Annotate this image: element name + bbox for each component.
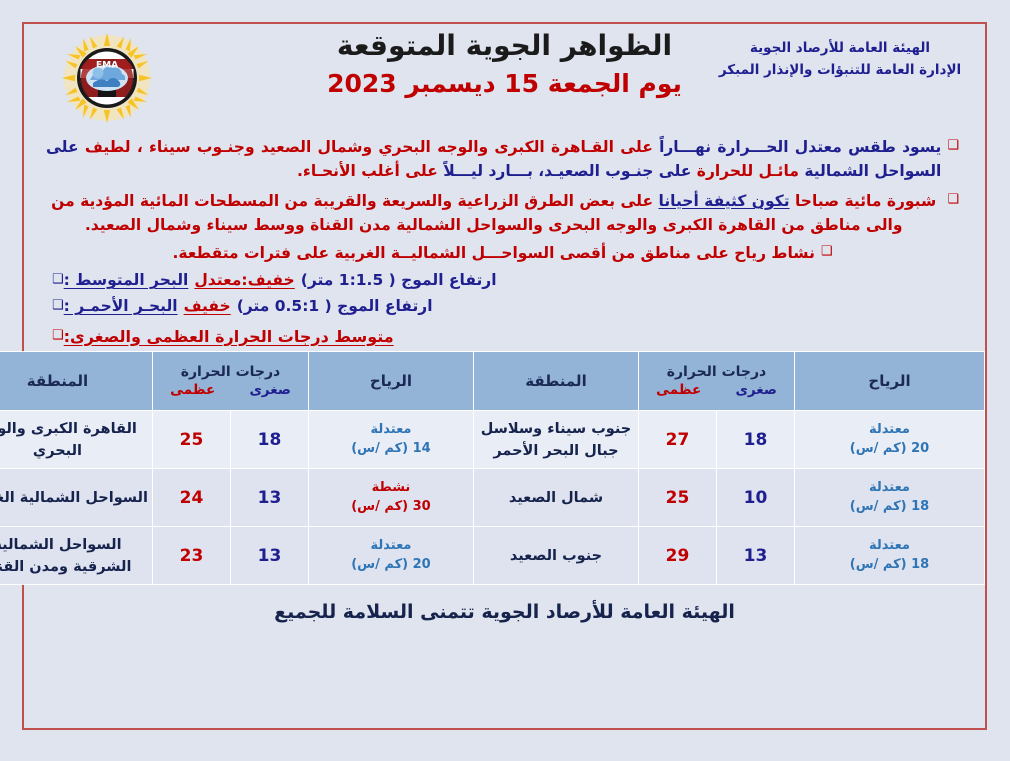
temp-min-left: 13 xyxy=(744,546,768,566)
table-row: معتدلة 18 (كم /س) 10 25 شمال الصعيد xyxy=(0,469,985,527)
temp-min-right: 13 xyxy=(258,488,282,508)
wind-state-left: معتدلة xyxy=(795,537,984,555)
bullet-marker-icon: ❑ xyxy=(52,269,64,291)
temperature-table: الرياح درجات الحرارة صغرى عظمى المنطقة ا… xyxy=(0,351,985,585)
table-header-row: الرياح درجات الحرارة صغرى عظمى المنطقة ا… xyxy=(0,352,985,411)
wind-value-left: معتدلة 18 (كم /س) xyxy=(795,479,984,515)
cell-wind-right: معتدلة 20 (كم /س) xyxy=(308,527,473,585)
table-row: معتدلة 18 (كم /س) 13 29 جنوب الصعيد xyxy=(0,527,985,585)
region-name-right: القاهرة الكبرى والوجه البحري xyxy=(0,421,137,459)
region-name-left: جنوب الصعيد xyxy=(510,548,602,564)
agency-line-2: الإدارة العامة للتنبؤات والإنذار المبكر xyxy=(715,60,965,82)
wind-speed-left: 18 (كم /س) xyxy=(795,556,984,574)
temp-min-left: 18 xyxy=(744,430,768,450)
wind-value-right: معتدلة 14 (كم /س) xyxy=(309,421,473,457)
header-min-left: صغرى xyxy=(735,382,776,398)
cell-min-left: 10 xyxy=(717,469,795,527)
bullet-marker-icon: ❑ xyxy=(52,295,64,317)
agency-name: الهيئة العامة للأرصاد الجوية الإدارة الع… xyxy=(715,38,965,81)
temp-max-right: 25 xyxy=(180,430,204,450)
sea-red-row: ارتفاع الموج ( 0.5:1 متر) خفيف البحـر ال… xyxy=(46,295,959,317)
bullet-wind: ❑ نشاط رياح على مناطق من أقصى السواحـــل… xyxy=(46,241,959,265)
wind-speed-right: 14 (كم /س) xyxy=(309,440,473,458)
b1-seg2: على القـاهرة الكبرى والوجه البحري وشمال … xyxy=(85,138,653,156)
cell-region-left: جنوب الصعيد xyxy=(473,527,638,585)
bulletin-header: EMA الظواهر الجوية المتوقعة يوم الجمعة 1… xyxy=(24,24,985,129)
cell-region-left: جنوب سيناء وسلاسل جبال البحر الأحمر xyxy=(473,411,638,469)
header-max-right: عظمى xyxy=(170,382,215,398)
header-wind-left-label: الرياح xyxy=(868,372,910,390)
b1-seg6: على أغلب الأنحـاء. xyxy=(297,162,438,180)
cell-min-right: 13 xyxy=(230,527,308,585)
header-region-left: المنطقة xyxy=(473,352,638,411)
header-region-right-label: المنطقة xyxy=(27,372,88,390)
wind-state-right: معتدلة xyxy=(309,537,473,555)
header-temps-left: درجات الحرارة صغرى عظمى xyxy=(638,352,794,411)
temp-max-right: 24 xyxy=(180,488,204,508)
wind-value-right: معتدلة 20 (كم /س) xyxy=(309,537,473,573)
cell-wind-right: معتدلة 14 (كم /س) xyxy=(308,411,473,469)
wind-state-left: معتدلة xyxy=(795,479,984,497)
header-temps-right: درجات الحرارة صغرى عظمى xyxy=(152,352,308,411)
wind-value-left: معتدلة 18 (كم /س) xyxy=(795,537,984,573)
b3-text: نشاط رياح على مناطق من أقصى السواحـــل ا… xyxy=(172,244,814,262)
bullet-marker-icon: ❑ xyxy=(52,325,64,347)
cell-max-left: 25 xyxy=(638,469,716,527)
bullet-general-weather-text: يسود طقس معتدل الحـــرارة نهـــاراً على … xyxy=(46,135,941,183)
wind-state-right: نشطة xyxy=(309,479,473,497)
cell-max-right: 24 xyxy=(152,469,230,527)
header-wind-right-label: الرياح xyxy=(370,372,412,390)
wind-value-left: معتدلة 20 (كم /س) xyxy=(795,421,984,457)
sea-red-state: خفيف xyxy=(184,297,231,315)
cell-max-right: 25 xyxy=(152,411,230,469)
temp-min-right: 18 xyxy=(258,430,282,450)
sea-mediterranean-wave: ارتفاع الموج ( 1:1.5 متر) xyxy=(301,271,497,289)
cell-min-left: 13 xyxy=(717,527,795,585)
b2-seg1: شبورة مائية صباحا xyxy=(795,192,936,210)
region-name-left: جنوب سيناء وسلاسل جبال البحر الأحمر xyxy=(481,421,632,459)
cell-wind-left: معتدلة 20 (كم /س) xyxy=(795,411,985,469)
table-caption: متوسط درجات الحرارة العظمى والصغرى: xyxy=(64,327,394,346)
sea-mediterranean-state: خفيف:معتدل xyxy=(194,271,294,289)
region-name-right: السواحل الشمالية الشرقية ومدن القناة xyxy=(0,537,131,575)
header-region-left-label: المنطقة xyxy=(525,372,586,390)
cell-wind-left: معتدلة 18 (كم /س) xyxy=(795,527,985,585)
sea-mediterranean-row: ارتفاع الموج ( 1:1.5 متر) خفيف:معتدل الب… xyxy=(46,269,959,291)
header-wind-right: الرياح xyxy=(308,352,473,411)
bullet-fog-text: شبورة مائية صباحا تكون كثيفة أحيانا على … xyxy=(46,189,941,237)
wind-speed-left: 20 (كم /س) xyxy=(795,440,984,458)
cell-min-left: 18 xyxy=(717,411,795,469)
agency-line-1: الهيئة العامة للأرصاد الجوية xyxy=(715,38,965,60)
header-region-right: المنطقة xyxy=(0,352,152,411)
bullet-wind-text: نشاط رياح على مناطق من أقصى السواحـــل ا… xyxy=(172,241,814,265)
cell-max-left: 29 xyxy=(638,527,716,585)
bullet-marker-icon: ❑ xyxy=(821,241,833,263)
bullet-marker-icon: ❑ xyxy=(947,189,959,211)
sea-mediterranean-label: البحر المتوسط : xyxy=(64,271,189,289)
table-row: معتدلة 20 (كم /س) 18 27 جنوب سيناء وسلاس… xyxy=(0,411,985,469)
cell-min-right: 18 xyxy=(230,411,308,469)
cell-region-right: السواحل الشمالية الغربية xyxy=(0,469,152,527)
wind-speed-right: 30 (كم /س) xyxy=(309,498,473,516)
cell-wind-left: معتدلة 18 (كم /س) xyxy=(795,469,985,527)
b1-seg4: مائـل للحرارة xyxy=(697,162,799,180)
header-wind-left: الرياح xyxy=(795,352,985,411)
temp-min-right: 13 xyxy=(258,546,282,566)
bullet-general-weather: ❑ يسود طقس معتدل الحـــرارة نهـــاراً عل… xyxy=(46,135,959,183)
wind-value-right: نشطة 30 (كم /س) xyxy=(309,479,473,515)
temp-max-left: 25 xyxy=(666,488,690,508)
header-min-right: صغرى xyxy=(249,382,290,398)
cell-region-right: السواحل الشمالية الشرقية ومدن القناة xyxy=(0,527,152,585)
temp-max-left: 27 xyxy=(666,430,690,450)
cell-max-right: 23 xyxy=(152,527,230,585)
bullet-marker-icon: ❑ xyxy=(947,135,959,157)
cell-region-right: القاهرة الكبرى والوجه البحري xyxy=(0,411,152,469)
sea-red-label: البحـر الأحمـر : xyxy=(64,297,178,315)
b2-seg2: تكون كثيفة أحيانا xyxy=(659,192,790,210)
header-temps-left-label: درجات الحرارة xyxy=(639,364,794,380)
temp-max-left: 29 xyxy=(666,546,690,566)
wind-state-left: معتدلة xyxy=(795,421,984,439)
b2-seg4: مناطق من القاهرة الكبرى والوجه البحرى وا… xyxy=(85,216,861,234)
bullet-fog: ❑ شبورة مائية صباحا تكون كثيفة أحيانا عل… xyxy=(46,189,959,237)
cell-wind-right: نشطة 30 (كم /س) xyxy=(308,469,473,527)
sea-red-wave: ارتفاع الموج ( 0.5:1 متر) xyxy=(237,297,433,315)
footer-message: الهيئة العامة للأرصاد الجوية تتمنى السلا… xyxy=(24,601,985,623)
temp-max-right: 23 xyxy=(180,546,204,566)
region-name-right: السواحل الشمالية الغربية xyxy=(0,490,148,506)
bulletin-page: EMA الظواهر الجوية المتوقعة يوم الجمعة 1… xyxy=(22,22,987,730)
b1-seg1: يسود طقس معتدل الحـــرارة نهـــاراً xyxy=(659,138,941,156)
wind-speed-right: 20 (كم /س) xyxy=(309,556,473,574)
header-max-left: عظمى xyxy=(656,382,701,398)
table-caption-row: متوسط درجات الحرارة العظمى والصغرى: ❑ xyxy=(46,325,959,347)
cell-min-right: 13 xyxy=(230,469,308,527)
cell-max-left: 27 xyxy=(638,411,716,469)
screenshot-canvas: EMA الظواهر الجوية المتوقعة يوم الجمعة 1… xyxy=(0,0,1010,761)
b1-seg5: على جنـوب الصعيـد، بـــارد ليـــلاً xyxy=(443,162,691,180)
temp-min-left: 10 xyxy=(744,488,768,508)
region-name-left: شمال الصعيد xyxy=(509,490,603,506)
wind-speed-left: 18 (كم /س) xyxy=(795,498,984,516)
wind-state-right: معتدلة xyxy=(309,421,473,439)
header-temps-right-label: درجات الحرارة xyxy=(153,364,308,380)
forecast-bullets: ❑ يسود طقس معتدل الحـــرارة نهـــاراً عل… xyxy=(46,135,959,265)
cell-region-left: شمال الصعيد xyxy=(473,469,638,527)
